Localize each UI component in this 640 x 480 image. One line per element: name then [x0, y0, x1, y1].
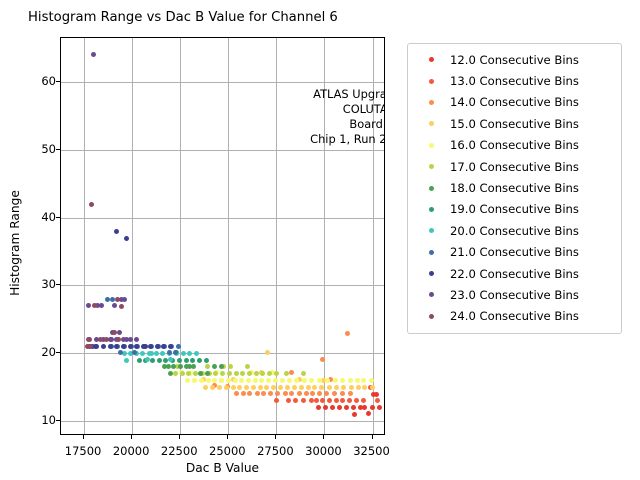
data-point [271, 385, 276, 390]
data-point [334, 398, 339, 403]
data-point [320, 357, 325, 362]
data-point [344, 405, 349, 410]
data-point [137, 358, 142, 363]
legend-dot-icon [429, 121, 434, 126]
data-point [287, 378, 292, 383]
data-point [109, 337, 114, 342]
data-point [340, 391, 345, 396]
data-point [267, 371, 272, 376]
data-point [89, 202, 94, 207]
chart-legend: 12.0 Consecutive Bins13.0 Consecutive Bi… [407, 43, 622, 334]
data-point [289, 370, 294, 375]
data-point [297, 391, 302, 396]
x-tick-label: 22500 [161, 444, 198, 458]
data-point [361, 378, 366, 383]
data-point [348, 378, 353, 383]
data-point [351, 405, 356, 410]
x-tick-mark [131, 435, 132, 439]
data-point [185, 378, 190, 383]
data-point [219, 378, 224, 383]
y-tick-mark [56, 217, 60, 218]
legend-dot-icon [429, 228, 434, 233]
data-point [254, 371, 259, 376]
data-point [317, 391, 322, 396]
data-point [374, 392, 379, 397]
x-tick-label: 17500 [65, 444, 102, 458]
data-point [258, 385, 263, 390]
y-tick-mark [56, 352, 60, 353]
data-point [149, 351, 154, 356]
legend-marker-icon [412, 57, 450, 62]
legend-label: 16.0 Consecutive Bins [450, 138, 579, 152]
data-point [309, 398, 314, 403]
data-point [190, 358, 195, 363]
legend-dot-icon [429, 143, 434, 148]
data-point [316, 405, 321, 410]
gridline-horizontal [61, 353, 384, 354]
data-point [227, 371, 232, 376]
legend-marker-icon [412, 250, 450, 255]
data-point [332, 391, 337, 396]
data-point [274, 398, 279, 403]
data-point [226, 378, 231, 383]
x-tick-mark [372, 435, 373, 439]
data-point [319, 385, 324, 390]
legend-label: 15.0 Consecutive Bins [450, 117, 579, 131]
legend-marker-icon [412, 292, 450, 297]
legend-item[interactable]: 14.0 Consecutive Bins [412, 92, 617, 113]
legend-marker-icon [412, 314, 450, 319]
data-point [220, 371, 225, 376]
data-point [362, 385, 367, 390]
data-point [205, 371, 210, 376]
data-point [264, 385, 269, 390]
data-point [310, 391, 315, 396]
legend-marker-icon [412, 271, 450, 276]
data-point [268, 391, 273, 396]
data-point [352, 412, 357, 417]
legend-item[interactable]: 13.0 Consecutive Bins [412, 70, 617, 91]
page-title: Histogram Range vs Dac B Value for Chann… [28, 10, 338, 25]
data-point [150, 358, 155, 363]
legend-item[interactable]: 24.0 Consecutive Bins [412, 306, 617, 327]
x-tick-label: 32500 [353, 444, 390, 458]
data-point [337, 405, 342, 410]
data-point [244, 385, 249, 390]
data-point [286, 398, 291, 403]
data-point [247, 391, 252, 396]
data-point [274, 371, 279, 376]
legend-item[interactable]: 20.0 Consecutive Bins [412, 220, 617, 241]
data-point [369, 378, 374, 383]
data-point [306, 385, 311, 390]
data-point [284, 371, 289, 376]
data-point [206, 378, 211, 383]
data-point [108, 344, 113, 349]
data-point [283, 391, 288, 396]
data-point [294, 378, 299, 383]
data-point [173, 371, 178, 376]
data-point [105, 297, 110, 302]
data-point [154, 351, 159, 356]
data-point [240, 371, 245, 376]
data-point [370, 405, 375, 410]
data-point [115, 297, 120, 302]
data-point [114, 229, 119, 234]
data-point [273, 378, 278, 383]
legend-dot-icon [429, 250, 434, 255]
data-point [197, 358, 202, 363]
data-point [340, 398, 345, 403]
y-tick-label: 60 [10, 74, 56, 88]
x-tick-mark [275, 435, 276, 439]
data-point [224, 385, 229, 390]
legend-label: 23.0 Consecutive Bins [450, 288, 579, 302]
data-point [377, 405, 382, 410]
data-point [203, 385, 208, 390]
data-point [148, 344, 153, 349]
data-point [104, 337, 109, 342]
data-point [194, 351, 199, 356]
data-point [168, 371, 173, 376]
data-point [246, 378, 251, 383]
data-point [184, 358, 189, 363]
data-point [124, 236, 129, 241]
y-tick-mark [56, 81, 60, 82]
legend-dot-icon [429, 100, 434, 105]
data-point [375, 398, 380, 403]
legend-dot-icon [429, 186, 434, 191]
data-point [128, 344, 133, 349]
data-point [204, 358, 209, 363]
data-point [239, 378, 244, 383]
legend-dot-icon [429, 271, 434, 276]
data-point [323, 405, 328, 410]
x-tick-label: 20000 [113, 444, 150, 458]
data-point [234, 371, 239, 376]
data-point [327, 398, 332, 403]
y-tick-mark [56, 284, 60, 285]
data-point [212, 364, 217, 369]
legend-dot-icon [429, 79, 434, 84]
legend-label: 21.0 Consecutive Bins [450, 245, 579, 259]
legend-dot-icon [429, 292, 434, 297]
data-point [280, 378, 285, 383]
data-point [261, 391, 266, 396]
data-point [334, 385, 339, 390]
y-tick-label: 20 [10, 345, 56, 359]
data-point [233, 378, 238, 383]
data-point [362, 405, 367, 410]
data-point [309, 378, 314, 383]
data-point [157, 358, 162, 363]
x-tick-mark [323, 435, 324, 439]
y-axis-label: Histogram Range [8, 143, 22, 343]
data-point [347, 398, 352, 403]
data-point [116, 337, 121, 342]
x-axis-label: Dac B Value [60, 461, 385, 475]
data-point [366, 411, 371, 416]
legend-marker-icon [412, 207, 450, 212]
x-tick-mark [179, 435, 180, 439]
data-point [265, 350, 270, 355]
data-point [134, 337, 139, 342]
data-point [251, 385, 256, 390]
data-point [217, 385, 222, 390]
data-point [259, 378, 264, 383]
legend-dot-icon [429, 314, 434, 319]
legend-item[interactable]: 23.0 Consecutive Bins [412, 284, 617, 305]
plot-area: ATLAS Upgrade COLUTAv4 Board 92 Chip 1, … [60, 37, 385, 435]
x-tick-label: 30000 [305, 444, 342, 458]
data-point [260, 371, 265, 376]
legend-item[interactable]: 18.0 Consecutive Bins [412, 177, 617, 198]
data-point [299, 385, 304, 390]
legend-label: 20.0 Consecutive Bins [450, 224, 579, 238]
y-tick-mark [56, 420, 60, 421]
legend-dot-icon [429, 57, 434, 62]
legend-label: 22.0 Consecutive Bins [450, 267, 579, 281]
data-point [168, 357, 173, 362]
legend-dot-icon [429, 207, 434, 212]
legend-label: 13.0 Consecutive Bins [450, 74, 579, 88]
legend-marker-icon [412, 186, 450, 191]
data-point [301, 371, 306, 376]
data-point [275, 391, 280, 396]
data-point [199, 378, 204, 383]
data-point [181, 351, 186, 356]
data-point [355, 378, 360, 383]
data-point [241, 391, 246, 396]
scatter-chart-figure: Histogram Range vs Dac B Value for Chann… [0, 0, 640, 480]
data-point [86, 303, 91, 308]
data-point [121, 344, 126, 349]
data-point [173, 350, 178, 355]
gridline-horizontal [61, 82, 384, 83]
data-point [345, 331, 350, 336]
legend-label: 14.0 Consecutive Bins [450, 95, 579, 109]
data-point [112, 303, 117, 308]
data-point [122, 297, 127, 302]
legend-item[interactable]: 22.0 Consecutive Bins [412, 263, 617, 284]
legend-marker-icon [412, 228, 450, 233]
legend-marker-icon [412, 121, 450, 126]
data-point [293, 398, 298, 403]
data-point [361, 398, 366, 403]
x-tick-label: 27500 [257, 444, 294, 458]
data-point [124, 358, 129, 363]
data-point [341, 385, 346, 390]
legend-label: 17.0 Consecutive Bins [450, 160, 579, 174]
data-point [234, 391, 239, 396]
data-point [278, 385, 283, 390]
data-point [340, 378, 345, 383]
legend-item[interactable]: 15.0 Consecutive Bins [412, 113, 617, 134]
data-point [178, 364, 183, 369]
data-point [302, 378, 307, 383]
x-tick-mark [227, 435, 228, 439]
data-point [370, 385, 375, 390]
data-point [314, 398, 319, 403]
data-point [180, 371, 185, 376]
data-point [117, 330, 122, 335]
data-point [333, 378, 338, 383]
data-point [237, 385, 242, 390]
x-tick-label: 25000 [209, 444, 246, 458]
data-point [255, 391, 260, 396]
data-point [187, 351, 192, 356]
data-point [91, 52, 96, 57]
legend-marker-icon [412, 100, 450, 105]
legend-marker-icon [412, 143, 450, 148]
legend-label: 18.0 Consecutive Bins [450, 181, 579, 195]
gridline-horizontal [61, 218, 384, 219]
data-point [301, 398, 306, 403]
legend-marker-icon [412, 79, 450, 84]
data-point [312, 385, 317, 390]
legend-item[interactable]: 17.0 Consecutive Bins [412, 156, 617, 177]
data-point [348, 391, 353, 396]
gridline-horizontal [61, 285, 384, 286]
legend-item[interactable]: 12.0 Consecutive Bins [412, 49, 617, 70]
data-point [101, 344, 106, 349]
data-point [176, 344, 181, 349]
data-point [231, 385, 236, 390]
data-point [119, 304, 124, 309]
data-point [155, 344, 160, 349]
data-point [210, 385, 215, 390]
gridline-horizontal [61, 150, 384, 151]
data-point [356, 385, 361, 390]
data-point [192, 378, 197, 383]
legend-label: 12.0 Consecutive Bins [450, 53, 579, 67]
data-point [253, 378, 258, 383]
legend-dot-icon [429, 164, 434, 169]
data-point [228, 364, 233, 369]
data-point [304, 391, 309, 396]
data-point [354, 398, 359, 403]
legend-item[interactable]: 16.0 Consecutive Bins [412, 135, 617, 156]
data-point [145, 357, 150, 362]
gridline-horizontal [61, 421, 384, 422]
data-point [285, 385, 290, 390]
data-point [349, 385, 354, 390]
data-point [289, 391, 294, 396]
data-point [140, 351, 145, 356]
legend-item[interactable]: 19.0 Consecutive Bins [412, 199, 617, 220]
data-point [112, 330, 117, 335]
legend-item[interactable]: 21.0 Consecutive Bins [412, 242, 617, 263]
x-tick-mark [83, 435, 84, 439]
legend-marker-icon [412, 164, 450, 169]
y-tick-label: 10 [10, 413, 56, 427]
data-point [324, 391, 329, 396]
data-point [212, 378, 217, 383]
data-point [132, 350, 137, 355]
legend-label: 19.0 Consecutive Bins [450, 202, 579, 216]
legend-label: 24.0 Consecutive Bins [450, 309, 579, 323]
data-point [247, 371, 252, 376]
chart-annotation: ATLAS Upgrade COLUTAv4 Board 92 Chip 1, … [221, 87, 385, 147]
data-point [205, 364, 210, 369]
data-point [177, 358, 182, 363]
data-point [325, 378, 330, 383]
data-point [330, 405, 335, 410]
data-point [266, 378, 271, 383]
gridline-vertical [132, 38, 133, 434]
gridline-vertical [84, 38, 85, 434]
data-point [213, 371, 218, 376]
data-point [292, 385, 297, 390]
data-point [143, 344, 148, 349]
data-point [160, 351, 165, 356]
y-tick-mark [56, 149, 60, 150]
data-point [245, 364, 250, 369]
data-point [327, 385, 332, 390]
